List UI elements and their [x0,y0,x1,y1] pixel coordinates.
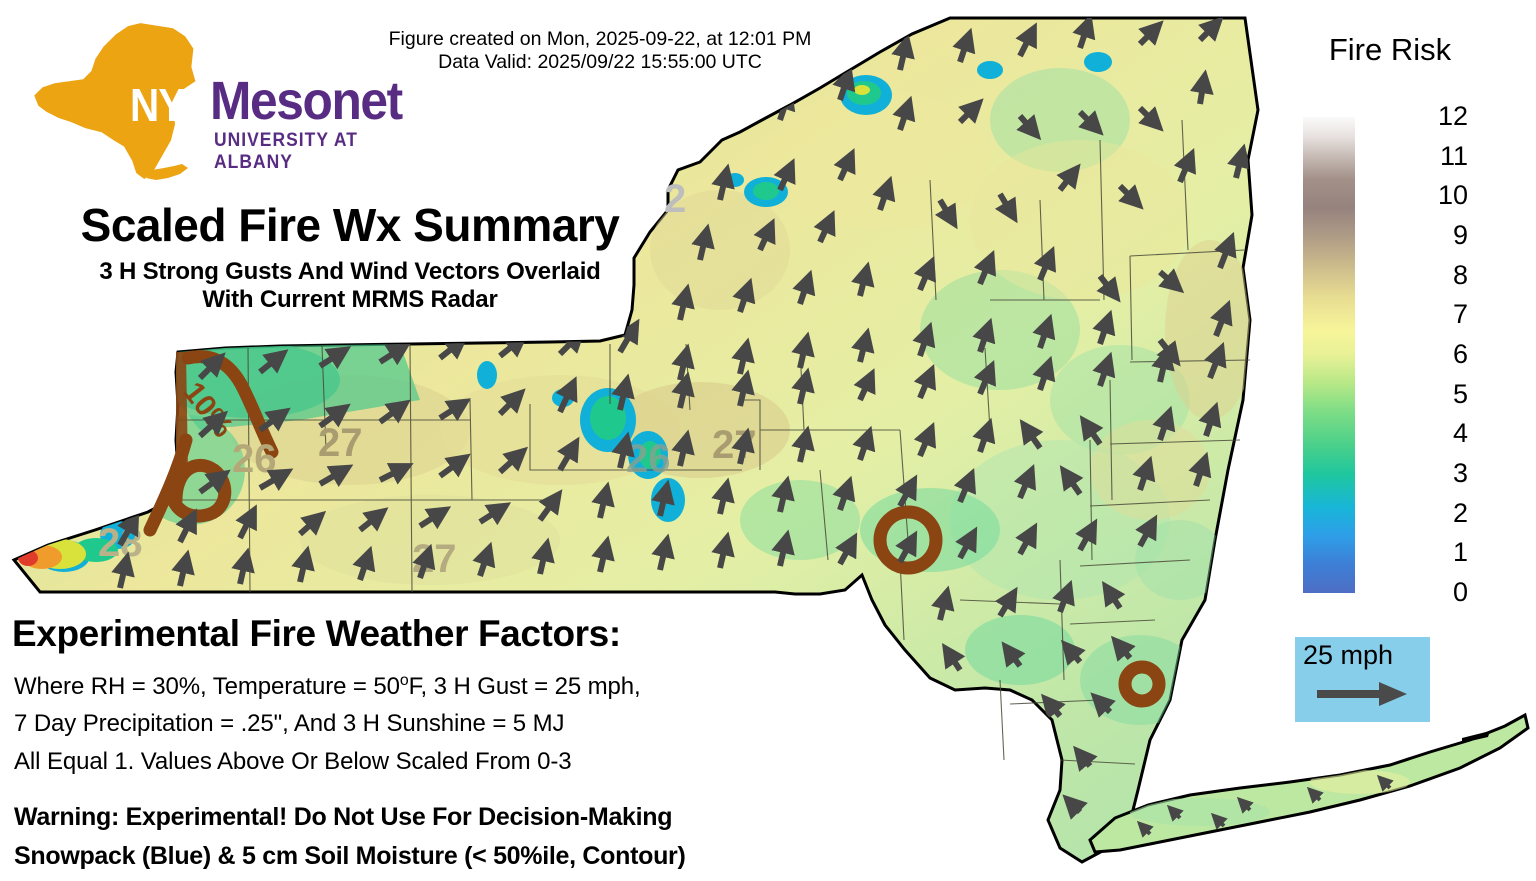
colorbar-tick-8: 8 [1424,262,1468,289]
colorbar-tick-9: 9 [1424,222,1468,249]
wind-legend-arrow-icon [1317,681,1409,712]
colorbar-tick-labels: 1211109876543210 [1424,103,1484,607]
fire-risk-colorbar [1303,117,1355,593]
wind-scale-legend: 25 mph [1295,637,1430,722]
svg-text:26: 26 [232,437,277,481]
figure-created-text: Figure created on Mon, 2025-09-22, at 12… [355,28,845,51]
colorbar-tick-11: 11 [1424,143,1468,170]
logo-nys-text: NYS [130,78,211,132]
footer-line-1: Where RH = 30%, Temperature = 50oF, 3 H … [14,672,641,701]
colorbar-tick-3: 3 [1424,460,1468,487]
svg-text:27: 27 [318,421,363,465]
degree-symbol: o [400,672,409,689]
colorbar-tick-10: 10 [1424,182,1468,209]
svg-text:26: 26 [626,437,671,481]
colorbar-tick-2: 2 [1424,500,1468,527]
colorbar-tick-7: 7 [1424,301,1468,328]
svg-text:27: 27 [712,423,757,467]
warning-line-2: Snowpack (Blue) & 5 cm Soil Moisture (< … [14,842,686,871]
subtitle-line-2: With Current MRMS Radar [20,286,680,314]
wind-legend-label: 25 mph [1303,640,1393,671]
colorbar-title: Fire Risk [1290,32,1490,68]
footer-line-3: All Equal 1. Values Above Or Below Scale… [14,748,572,776]
warning-line-1: Warning: Experimental! Do Not Use For De… [14,803,672,832]
footer-heading: Experimental Fire Weather Factors: [12,613,621,655]
nys-mesonet-logo: NYS Mesonet UNIVERSITY AT ALBANY [22,18,382,188]
colorbar-tick-5: 5 [1424,381,1468,408]
long-island [1090,715,1528,852]
logo-mesonet-text: Mesonet [210,70,402,132]
subtitle-line-1: 3 H Strong Gusts And Wind Vectors Overla… [20,258,680,286]
page-title: Scaled Fire Wx Summary [30,198,670,252]
logo-university-text: UNIVERSITY AT ALBANY [214,130,369,174]
page-subtitle: 3 H Strong Gusts And Wind Vectors Overla… [20,258,680,314]
footer-line-2: 7 Day Precipitation = .25", And 3 H Suns… [14,710,564,738]
figure-timestamp-block: Figure created on Mon, 2025-09-22, at 12… [355,28,845,74]
footer-line-1a: Where RH = 30%, Temperature = 50 [14,673,400,700]
colorbar-tick-1: 1 [1424,539,1468,566]
colorbar-tick-12: 12 [1424,103,1468,130]
data-valid-text: Data Valid: 2025/09/22 15:55:00 UTC [355,51,845,74]
colorbar-tick-0: 0 [1424,579,1468,606]
colorbar-tick-6: 6 [1424,341,1468,368]
colorbar-tick-4: 4 [1424,420,1468,447]
footer-line-1b: F, 3 H Gust = 25 mph, [409,673,641,700]
